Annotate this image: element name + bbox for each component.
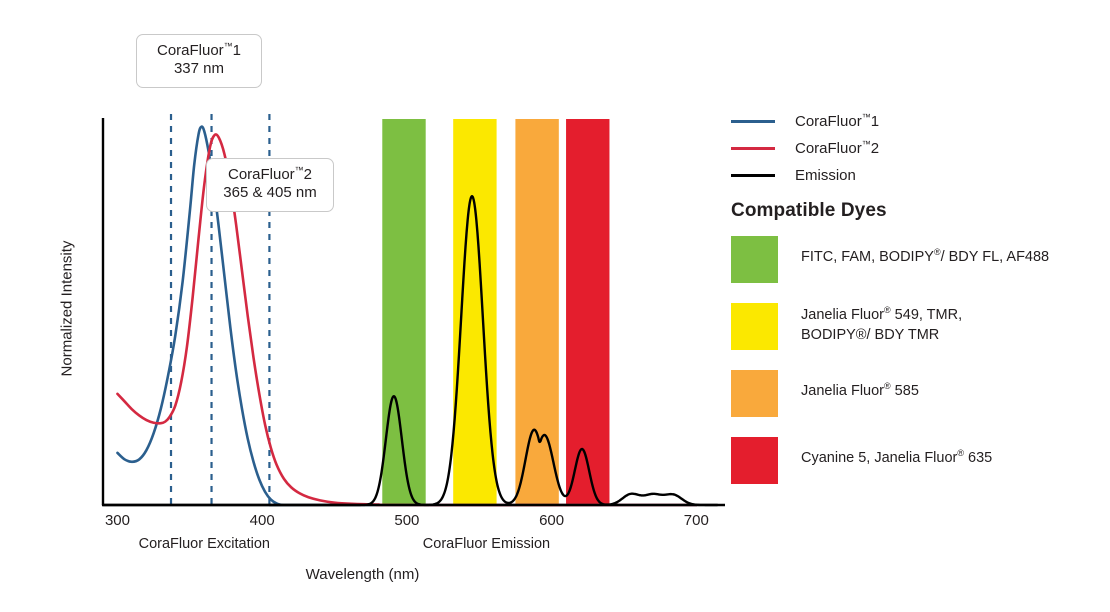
fluorescence-spectra-figure: CoraFluor™1 337 nm CoraFluor™2 365 & 405… (0, 0, 1110, 612)
dye-label: FITC, FAM, BODIPY®/ BDY FL, AF488 (801, 236, 1049, 268)
dye-band-3 (566, 119, 609, 505)
x-tick-600: 600 (522, 512, 582, 529)
x-axis-title: Wavelength (nm) (0, 566, 725, 583)
legend-item-0: CoraFluor™1 (731, 108, 1091, 135)
compatible-dyes-heading: Compatible Dyes (731, 200, 887, 222)
legend-label-suffix: 2 (871, 140, 879, 157)
legend-item-1: CoraFluor™2 (731, 135, 1091, 162)
legend-item-2: Emission (731, 162, 1091, 189)
callout-corafluor2: CoraFluor™2 365 & 405 nm (206, 158, 334, 212)
registered-symbol: ® (934, 247, 941, 257)
x-axis-section-emission: CoraFluor Emission (386, 536, 586, 552)
dye-label-line1: Cyanine 5, Janelia Fluor® 635 (801, 449, 992, 469)
y-axis-title: Normalized Intensity (59, 209, 76, 409)
callout1-index: 1 (233, 42, 241, 59)
dye-color-swatch (731, 303, 778, 350)
legend-line-swatch (731, 147, 775, 150)
x-tick-400: 400 (232, 512, 292, 529)
registered-symbol: ® (884, 305, 891, 315)
dye-band-2 (515, 119, 558, 505)
series-legend: CoraFluor™1CoraFluor™2Emission (731, 108, 1091, 189)
dye-item-3: Cyanine 5, Janelia Fluor® 635 (731, 437, 1101, 484)
legend-line-swatch (731, 120, 775, 123)
callout1-wavelength: 337 nm (149, 60, 249, 78)
dye-label: Janelia Fluor® 549, TMR,BODIPY®/ BDY TMR (801, 303, 962, 345)
callout-corafluor1: CoraFluor™1 337 nm (136, 34, 262, 88)
legend-item-label: CoraFluor™2 (795, 140, 879, 157)
dye-color-swatch (731, 437, 778, 484)
dye-name: Janelia Fluor (801, 307, 884, 323)
dye-item-2: Janelia Fluor® 585 (731, 370, 1101, 417)
dye-label-line1: Janelia Fluor® 585 (801, 382, 919, 402)
x-axis-section-excitation: CoraFluor Excitation (104, 536, 304, 552)
dye-color-swatch (731, 370, 778, 417)
legend-line-swatch (731, 174, 775, 177)
dye-label-line1: FITC, FAM, BODIPY®/ BDY FL, AF488 (801, 248, 1049, 268)
legend-label-suffix: 1 (871, 113, 879, 130)
dye-item-1: Janelia Fluor® 549, TMR,BODIPY®/ BDY TMR (731, 303, 1101, 350)
dye-name-rest: 549, TMR, (891, 307, 962, 323)
registered-symbol: ® (884, 381, 891, 391)
callout2-index: 2 (304, 166, 312, 183)
dye-color-swatch (731, 236, 778, 283)
trademark-symbol: ™ (862, 139, 871, 149)
compatible-dyes-list: FITC, FAM, BODIPY®/ BDY FL, AF488Janelia… (731, 236, 1101, 504)
dye-label: Janelia Fluor® 585 (801, 370, 919, 402)
callout2-wavelength: 365 & 405 nm (219, 184, 321, 202)
legend-label-main: Emission (795, 167, 856, 184)
callout1-name: CoraFluor (157, 42, 224, 59)
dye-name-rest: 585 (891, 383, 919, 399)
legend-label-main: CoraFluor (795, 113, 862, 130)
x-tick-700: 700 (666, 512, 726, 529)
dye-label-line2: BODIPY®/ BDY TMR (801, 326, 962, 346)
dye-name: FITC, FAM, BODIPY (801, 249, 934, 265)
legend-label-main: CoraFluor (795, 140, 862, 157)
x-tick-500: 500 (377, 512, 437, 529)
dye-name-rest: 635 (964, 450, 992, 466)
dye-name: Janelia Fluor (801, 383, 884, 399)
dye-name: Cyanine 5, Janelia Fluor (801, 450, 957, 466)
legend-item-label: CoraFluor™1 (795, 113, 879, 130)
legend-item-label: Emission (795, 167, 856, 184)
trademark-symbol: ™ (295, 165, 304, 175)
callout2-name: CoraFluor (228, 166, 295, 183)
dye-band-1 (453, 119, 496, 505)
dye-label: Cyanine 5, Janelia Fluor® 635 (801, 437, 992, 469)
x-tick-300: 300 (87, 512, 147, 529)
dye-item-0: FITC, FAM, BODIPY®/ BDY FL, AF488 (731, 236, 1101, 283)
trademark-symbol: ™ (862, 112, 871, 122)
dye-name-rest: / BDY FL, AF488 (941, 249, 1050, 265)
dye-label-line1: Janelia Fluor® 549, TMR, (801, 306, 962, 326)
trademark-symbol: ™ (224, 41, 233, 51)
